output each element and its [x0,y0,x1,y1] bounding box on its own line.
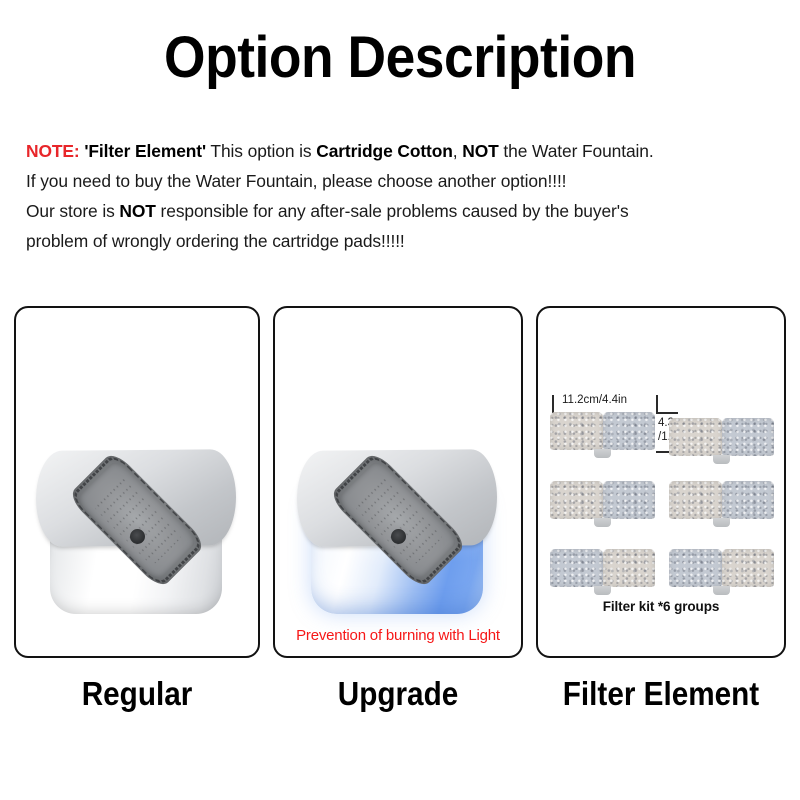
option-panel-filter-element[interactable]: 11.2cm/4.4in 4.3 cm /1.7in [536,306,786,658]
filter-pad-tab [713,455,730,464]
note-line-2: If you need to buy the Water Fountain, p… [26,166,782,196]
filter-pad-tab [594,518,611,527]
note-l3-plain-1: Our store is [26,201,119,221]
filter-pad-pair [669,418,774,456]
filter-pad-tab [594,586,611,595]
dimension-tick-left [552,395,554,413]
filter-pad-tab [594,449,611,458]
note-l1-plain-3: , [453,141,462,161]
fountain-center-hole [130,529,145,544]
page-title: Option Description [32,26,768,90]
filter-pad-left [669,418,722,456]
filter-group [669,549,774,595]
option-panel-upgrade[interactable]: Prevention of burning with Light [273,306,523,658]
dimension-width-label: 11.2cm/4.4in [562,394,627,406]
filter-pad-tab [713,518,730,527]
filter-pad-right [722,549,775,587]
note-l3-bold-not: NOT [119,201,155,221]
note-l1-bold-filter-element: 'Filter Element' [84,141,206,161]
dimension-tick-right [656,395,658,413]
filter-pad-pair [669,481,774,519]
option-label-filter-element: Filter Element [549,672,774,716]
filter-pad-right [603,412,656,450]
filter-pad-pair [550,481,655,519]
filter-group [669,481,774,527]
filter-group [550,481,655,527]
filter-pad-left [669,481,722,519]
filter-pad-tab [713,586,730,595]
filter-pad-right [722,418,775,456]
note-line-3: Our store is NOT responsible for any aft… [26,196,782,226]
product-options-row: Prevention of burning with Light 11.2cm/… [0,306,800,660]
note-line-1: NOTE: 'Filter Element' This option is Ca… [26,136,782,166]
note-prefix: NOTE: [26,141,80,161]
filter-pad-pair [550,549,655,587]
filter-pad-left [550,481,603,519]
filter-pad-pair [550,412,655,450]
note-l1-bold-cartridge-cotton: Cartridge Cotton [316,141,453,161]
filter-pad-right [603,549,656,587]
filter-pad-left [669,549,722,587]
filter-kit-image: 11.2cm/4.4in 4.3 cm /1.7in [538,308,784,656]
pet-water-fountain-led-image [293,436,503,636]
filter-pad-left [550,549,603,587]
option-label-regular: Regular [26,672,247,716]
note-block: NOTE: 'Filter Element' This option is Ca… [26,136,782,256]
upgrade-caption: Prevention of burning with Light [275,627,521,644]
filter-group-grid [550,412,774,600]
filter-pad-right [722,481,775,519]
filter-group [550,412,655,458]
note-l1-plain-2: This option is [206,141,316,161]
note-l1-bold-not: NOT [462,141,498,161]
filter-pad-pair [669,549,774,587]
option-label-upgrade: Upgrade [286,672,511,716]
option-panel-regular[interactable] [14,306,260,658]
filter-group [550,549,655,595]
filter-pad-left [550,412,603,450]
option-labels-row: Regular Upgrade Filter Element [0,672,800,720]
pet-water-fountain-image [32,436,242,636]
filter-kit-caption: Filter kit *6 groups [538,599,784,614]
fountain-center-hole [391,529,406,544]
filter-group [669,418,774,464]
filter-pad-right [603,481,656,519]
note-l1-plain-4: the Water Fountain. [499,141,654,161]
note-line-4: problem of wrongly ordering the cartridg… [26,226,782,256]
note-l3-plain-2: responsible for any after-sale problems … [156,201,629,221]
